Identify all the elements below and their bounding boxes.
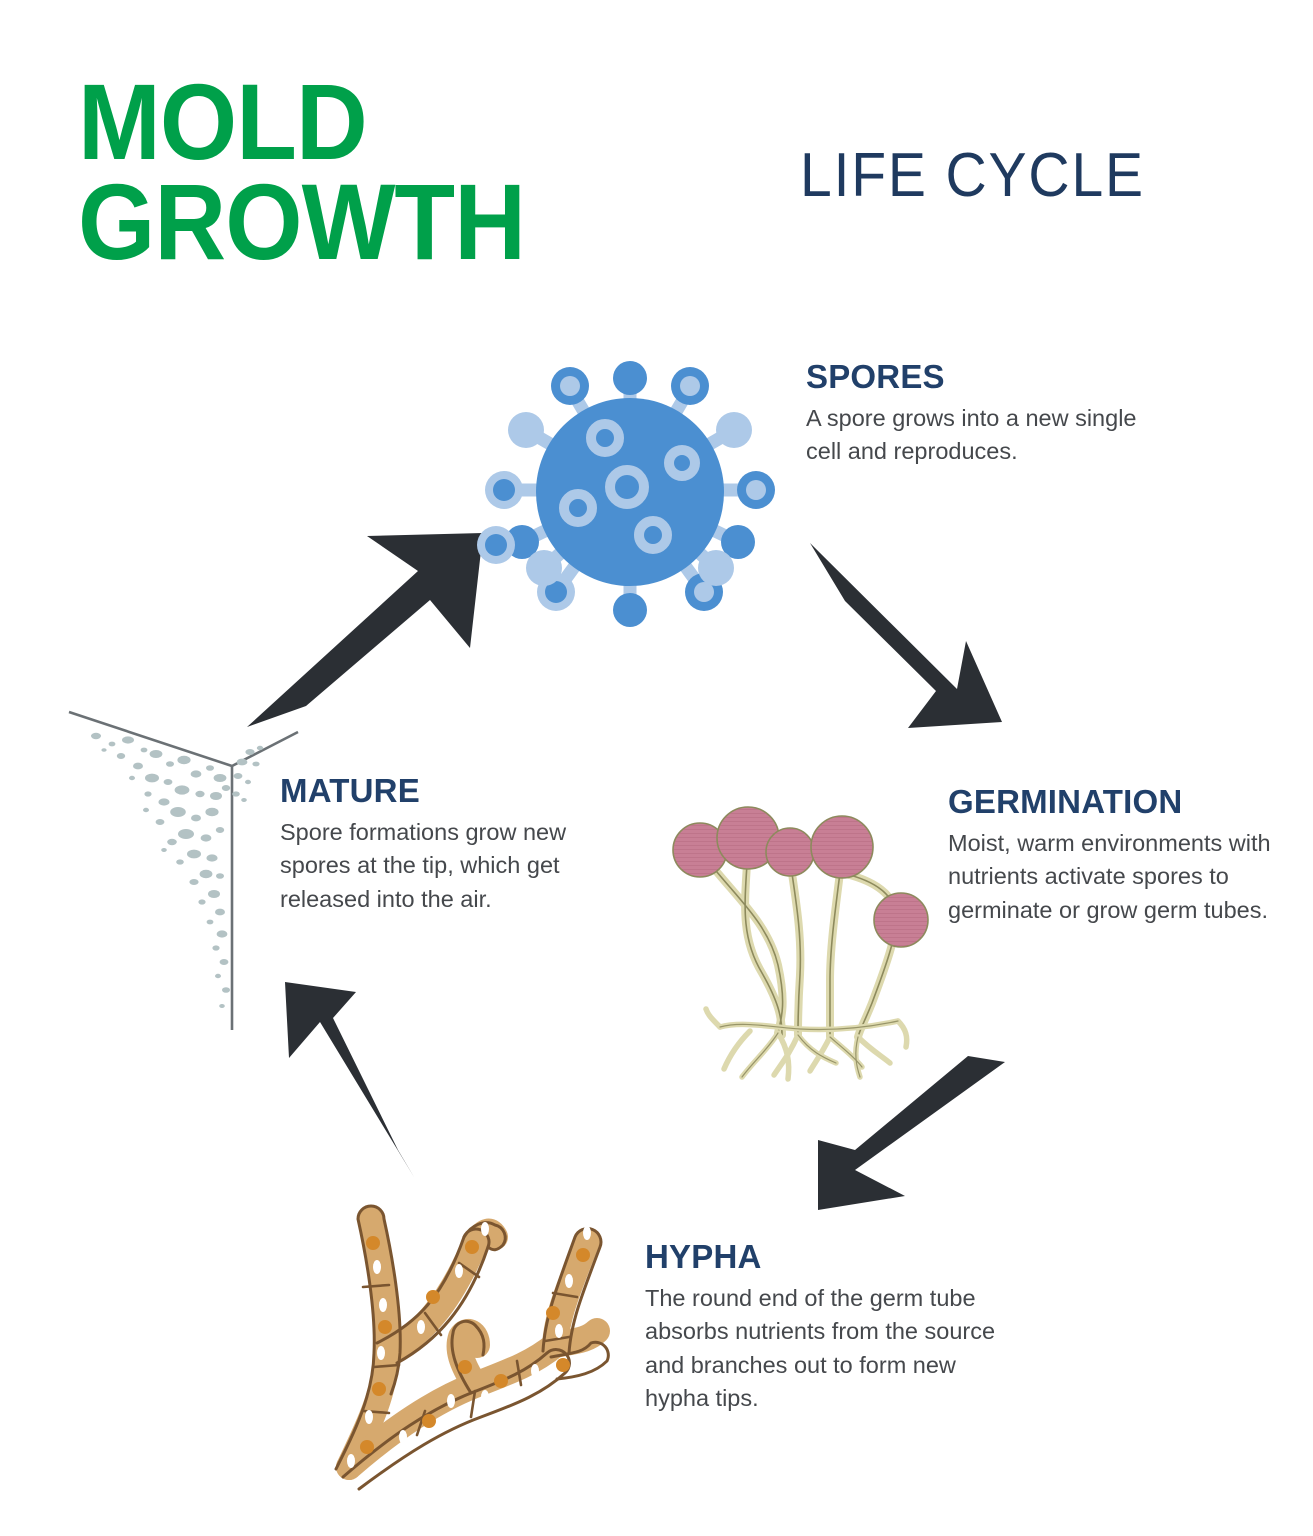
mature-body: Spore formations grow new spores at the … [280, 816, 590, 916]
stage-germination-text: GERMINATION Moist, warm environments wit… [948, 783, 1288, 927]
hypha-tubes [349, 1219, 597, 1467]
spore-body [536, 398, 724, 586]
hypha-heading: HYPHA [645, 1238, 1010, 1276]
mature-heading: MATURE [280, 772, 590, 810]
stage-mature-text: MATURE Spore formations grow new spores … [280, 772, 590, 916]
infographic-canvas: MOLD GROWTH LIFE CYCLE [0, 0, 1313, 1536]
stage-hypha-text: HYPHA The round end of the germ tube abs… [645, 1238, 1010, 1415]
stage-spores-text: SPORES A spore grows into a new single c… [806, 358, 1151, 469]
branching-hypha-icon [325, 1185, 635, 1495]
arrow-spores-to-germination [810, 543, 1002, 728]
germination-heading: GERMINATION [948, 783, 1288, 821]
spores-heading: SPORES [806, 358, 1151, 396]
sporangiophore-icon [650, 805, 950, 1105]
hypha-body: The round end of the germ tube absorbs n… [645, 1282, 1010, 1415]
germination-body: Moist, warm environments with nutrients … [948, 827, 1288, 927]
spore-virus-icon [470, 330, 790, 650]
mold-spots [91, 733, 263, 1008]
spores-body: A spore grows into a new single cell and… [806, 402, 1151, 469]
